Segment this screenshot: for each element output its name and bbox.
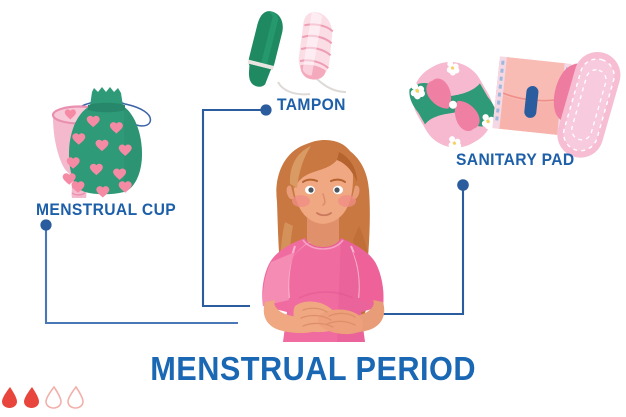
blood-drop-icon (24, 387, 39, 408)
infographic-canvas: MENSTRUAL CUP TAMPON (0, 0, 626, 417)
connector-menstrual-cup (40, 219, 238, 323)
storage-pouch-icon (63, 87, 142, 198)
tampon-illustration (238, 8, 358, 100)
sanitary-pad-illustration (400, 48, 620, 158)
label-menstrual-cup: MENSTRUAL CUP (36, 200, 176, 220)
menstrual-cup-illustration (22, 82, 172, 198)
tampon-applicator-icon (240, 8, 287, 89)
blood-drop-icon (46, 387, 61, 408)
page-title-text: MENSTRUAL PERIOD (150, 350, 476, 388)
tampon-strings-icon (278, 78, 346, 94)
blood-drop-icon (2, 387, 17, 408)
label-tampon: TAMPON (277, 95, 346, 115)
blood-drop-icon (68, 387, 83, 408)
woman-illustration (233, 130, 413, 345)
label-sanitary-pad: SANITARY PAD (456, 150, 575, 170)
tampon-pink-icon (294, 10, 338, 82)
page-title: MENSTRUAL PERIOD (0, 350, 626, 388)
blood-drop-meter (0, 385, 626, 409)
cloth-pad-icon (400, 49, 505, 159)
